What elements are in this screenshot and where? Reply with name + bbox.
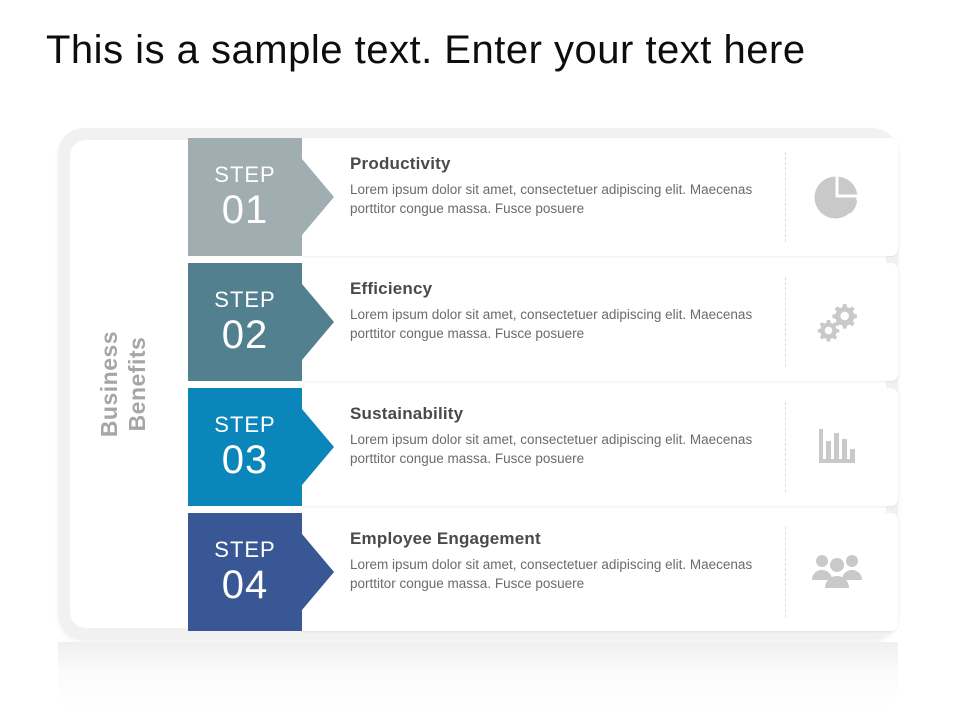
step-word: STEP — [214, 539, 275, 561]
row-body: Lorem ipsum dolor sit amet, consectetuer… — [350, 180, 760, 218]
step-word: STEP — [214, 164, 275, 186]
step-chevron-icon — [302, 534, 334, 610]
step-chevron-icon — [302, 409, 334, 485]
step-block-03[interactable]: STEP 03 — [188, 388, 302, 506]
step-number: 04 — [222, 565, 269, 605]
page-title: This is a sample text. Enter your text h… — [46, 28, 806, 73]
pie-chart-icon — [806, 166, 868, 228]
row-text: Employee Engagement Lorem ipsum dolor si… — [350, 529, 770, 593]
step-word: STEP — [214, 414, 275, 436]
side-label: Business Benefits — [95, 331, 151, 437]
side-label-column: Business Benefits — [58, 128, 188, 640]
row-heading: Productivity — [350, 154, 770, 174]
bar-chart-icon — [806, 416, 868, 478]
list-item[interactable]: STEP 04 Employee Engagement Lorem ipsum … — [188, 513, 898, 631]
frame-reflection — [58, 642, 898, 712]
row-heading: Employee Engagement — [350, 529, 770, 549]
step-block-04[interactable]: STEP 04 — [188, 513, 302, 631]
list-item[interactable]: STEP 02 Efficiency Lorem ipsum dolor sit… — [188, 263, 898, 381]
step-word: STEP — [214, 289, 275, 311]
step-number: 02 — [222, 315, 269, 355]
row-body: Lorem ipsum dolor sit amet, consectetuer… — [350, 555, 760, 593]
row-body: Lorem ipsum dolor sit amet, consectetuer… — [350, 305, 760, 343]
step-chevron-icon — [302, 159, 334, 235]
step-block-02[interactable]: STEP 02 — [188, 263, 302, 381]
row-divider — [785, 277, 786, 367]
list-item[interactable]: STEP 01 Productivity Lorem ipsum dolor s… — [188, 138, 898, 256]
row-divider — [785, 402, 786, 492]
side-label-line-1: Business — [95, 331, 123, 437]
row-heading: Efficiency — [350, 279, 770, 299]
step-number: 03 — [222, 440, 269, 480]
row-divider — [785, 527, 786, 617]
row-text: Productivity Lorem ipsum dolor sit amet,… — [350, 154, 770, 218]
people-group-icon — [806, 541, 868, 603]
row-heading: Sustainability — [350, 404, 770, 424]
gears-icon — [806, 291, 868, 353]
step-chevron-icon — [302, 284, 334, 360]
row-body: Lorem ipsum dolor sit amet, consectetuer… — [350, 430, 760, 468]
row-text: Sustainability Lorem ipsum dolor sit ame… — [350, 404, 770, 468]
row-text: Efficiency Lorem ipsum dolor sit amet, c… — [350, 279, 770, 343]
steps-list: STEP 01 Productivity Lorem ipsum dolor s… — [188, 138, 898, 638]
side-label-line-2: Benefits — [123, 331, 151, 437]
step-number: 01 — [222, 190, 269, 230]
row-divider — [785, 152, 786, 242]
list-item[interactable]: STEP 03 Sustainability Lorem ipsum dolor… — [188, 388, 898, 506]
step-block-01[interactable]: STEP 01 — [188, 138, 302, 256]
